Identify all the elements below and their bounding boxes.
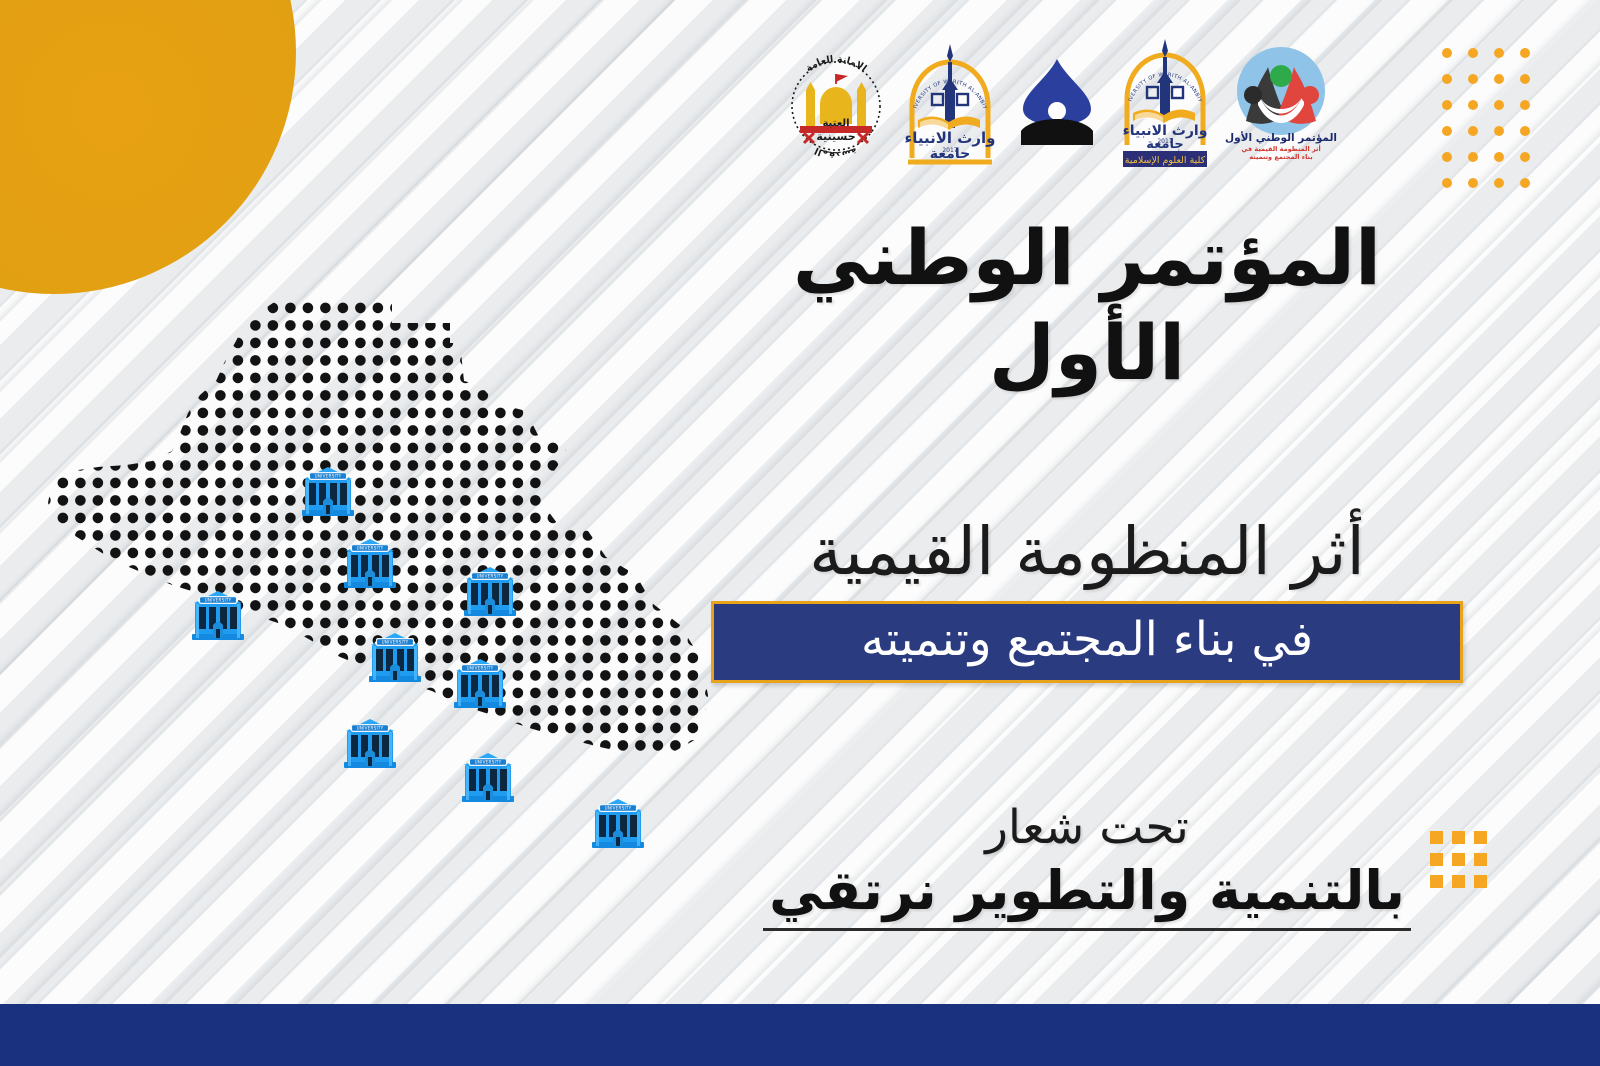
dot <box>1442 48 1452 58</box>
gold-corner-circle <box>0 0 296 294</box>
dot <box>1520 74 1530 84</box>
map-marker-9 <box>592 799 644 848</box>
svg-text:UNIVERSITY OF WARITH AL-ANBIYA: UNIVERSITY OF WARITH AL-ANBIYAA <box>1117 37 1203 104</box>
dot <box>1468 152 1478 162</box>
svg-text:حسينية: حسينية <box>816 130 855 143</box>
conference-poster: الامانة العامة المقدسة <box>0 0 1600 1066</box>
square-dot <box>1430 831 1443 844</box>
al-abbas-holy-shrine-logo: الامانة العامة المقدسة <box>780 39 892 167</box>
university-of-warith-al-anbiyaa-logo: وارث الانبياء جامعة 2017 UNIVERSITY OF W… <box>902 39 998 167</box>
blue-dome-book-logo <box>1007 39 1107 167</box>
highlight-box: في بناء المجتمع وتنميته <box>711 601 1463 683</box>
dot <box>1494 178 1504 188</box>
map-marker-8 <box>462 753 514 802</box>
highlight-text: في بناء المجتمع وتنميته <box>714 614 1460 666</box>
map-marker-1 <box>302 467 354 516</box>
svg-text:كلية العلوم الإسلامية: كلية العلوم الإسلامية <box>1124 155 1205 166</box>
partner-logos-row: الامانة العامة المقدسة <box>780 38 1340 168</box>
iraq-dotted-map: UNIVERSITY <box>40 285 720 935</box>
svg-text:العتبة: العتبة <box>822 118 849 129</box>
subtitle-group: أثر المنظومة القيمية في بناء المجتمع وتن… <box>692 512 1482 683</box>
dot <box>1520 100 1530 110</box>
dot <box>1520 152 1530 162</box>
svg-text:الامانة العامة: الامانة العامة <box>804 54 869 74</box>
dot <box>1520 48 1530 58</box>
svg-text:بناء المجتمع وتنميته: بناء المجتمع وتنميته <box>1249 153 1312 161</box>
slogan-lead: تحت شعار <box>692 801 1482 855</box>
dot <box>1468 48 1478 58</box>
map-marker-3 <box>464 567 516 616</box>
dot <box>1442 100 1452 110</box>
subtitle-line: أثر المنظومة القيمية <box>692 512 1482 591</box>
svg-text:2017: 2017 <box>1157 138 1172 145</box>
square-dot <box>1474 875 1487 888</box>
square-dot <box>1474 831 1487 844</box>
map-marker-5 <box>369 633 421 682</box>
dot <box>1442 152 1452 162</box>
map-marker-7 <box>344 719 396 768</box>
dot <box>1494 74 1504 84</box>
page-title: المؤتمر الوطني الأول <box>692 210 1482 400</box>
dot <box>1494 126 1504 136</box>
dot <box>1468 126 1478 136</box>
map-marker-2 <box>344 539 396 588</box>
dot <box>1468 74 1478 84</box>
svg-text:المقدسة: المقدسة <box>813 145 859 161</box>
poster-text-column: المؤتمر الوطني الأول أثر المنظومة القيمي… <box>692 210 1482 931</box>
svg-text:المؤتمر الوطني الأول: المؤتمر الوطني الأول <box>1225 131 1337 144</box>
top-orange-dot-matrix <box>1438 48 1530 192</box>
dot <box>1520 178 1530 188</box>
dot <box>1494 48 1504 58</box>
svg-text:وارث الانبياء: وارث الانبياء <box>904 129 995 147</box>
slogan-main: بالتنمية والتطوير نرتقي <box>763 859 1411 931</box>
square-dot <box>1452 853 1465 866</box>
dot <box>1442 178 1452 188</box>
square-dot <box>1474 853 1487 866</box>
square-dot <box>1430 853 1443 866</box>
slogan-group: تحت شعار بالتنمية والتطوير نرتقي <box>692 801 1482 931</box>
dot <box>1494 100 1504 110</box>
square-dot <box>1452 875 1465 888</box>
dot <box>1494 152 1504 162</box>
dot <box>1468 178 1478 188</box>
college-of-islamic-sciences-logo: وارث الانبياء جامعة 2017 UNIVERSITY OF W… <box>1117 39 1213 167</box>
square-dot <box>1430 875 1443 888</box>
map-marker-4 <box>192 591 244 640</box>
slogan-orange-square-matrix <box>1430 831 1487 888</box>
dot <box>1442 126 1452 136</box>
bottom-bar <box>0 1004 1600 1066</box>
map-marker-6 <box>454 659 506 708</box>
svg-text:أثر المنظومة القيمية في: أثر المنظومة القيمية في <box>1241 144 1320 153</box>
dot <box>1468 100 1478 110</box>
svg-text:2017: 2017 <box>942 147 957 154</box>
square-dot <box>1452 831 1465 844</box>
dot <box>1520 126 1530 136</box>
dot <box>1442 74 1452 84</box>
first-national-conference-logo: المؤتمر الوطني الأول أثر المنظومة القيمي… <box>1222 39 1340 167</box>
